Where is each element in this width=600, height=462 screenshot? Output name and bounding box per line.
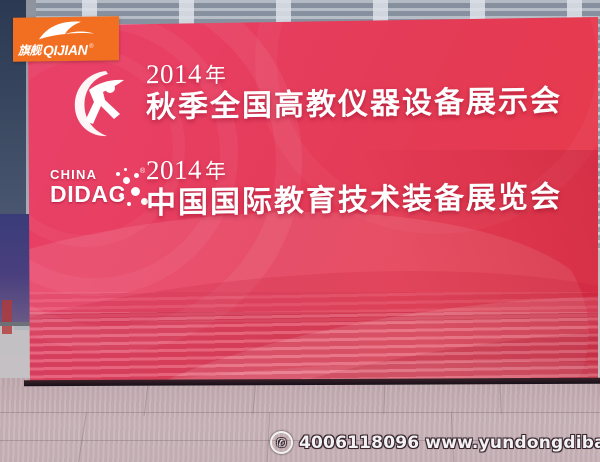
watermark-phone: 4006118096 [299, 433, 419, 453]
phone-icon: ✆ [270, 431, 293, 454]
watermark-website: www.yundongdiban.com [425, 433, 600, 453]
title-2-year-suffix: 年 [205, 159, 227, 183]
title-2-year: 2014 [146, 154, 202, 185]
title-block-autumn-expo: 2014年 秋季全国高教仪器设备展示会 [146, 58, 562, 121]
qijian-trademark: ® [89, 44, 93, 50]
china-didac-logo: CHINA DIDAC ® [50, 166, 146, 214]
qijian-logo: 旗舰 QIJIAN ® [13, 16, 119, 61]
left-red-marker [2, 300, 12, 334]
title-2-year-line: 2014年 [146, 151, 562, 185]
qijian-wordmark: 旗舰 QIJIAN ® [18, 41, 115, 58]
pavement-tile-seam [0, 412, 600, 413]
qijian-chinese-name: 旗舰 [18, 44, 41, 56]
qijian-english-name: QIJIAN [43, 43, 87, 58]
title-1-chinese: 秋季全国高教仪器设备展示会 [146, 86, 562, 125]
didac-trademark: ® [140, 168, 145, 175]
screenshot-root: 旗舰 QIJIAN ® CHINA DIDAC ® 2014年 [0, 0, 600, 462]
watermark: ✆ 4006118096 www.yundongdiban.com [270, 431, 600, 454]
running-figure-mascot-icon [72, 66, 134, 140]
qijian-swoosh-icon [37, 20, 97, 43]
title-1-year: 2014 [146, 58, 202, 89]
didac-line1: CHINA [50, 168, 97, 181]
title-2-chinese: 中国国际教育技术装备展览会 [146, 182, 562, 221]
title-block-didac-expo: 2014年 中国国际教育技术装备展览会 [146, 154, 562, 217]
title-1-year-line: 2014年 [146, 55, 562, 89]
title-1-year-suffix: 年 [205, 63, 227, 87]
